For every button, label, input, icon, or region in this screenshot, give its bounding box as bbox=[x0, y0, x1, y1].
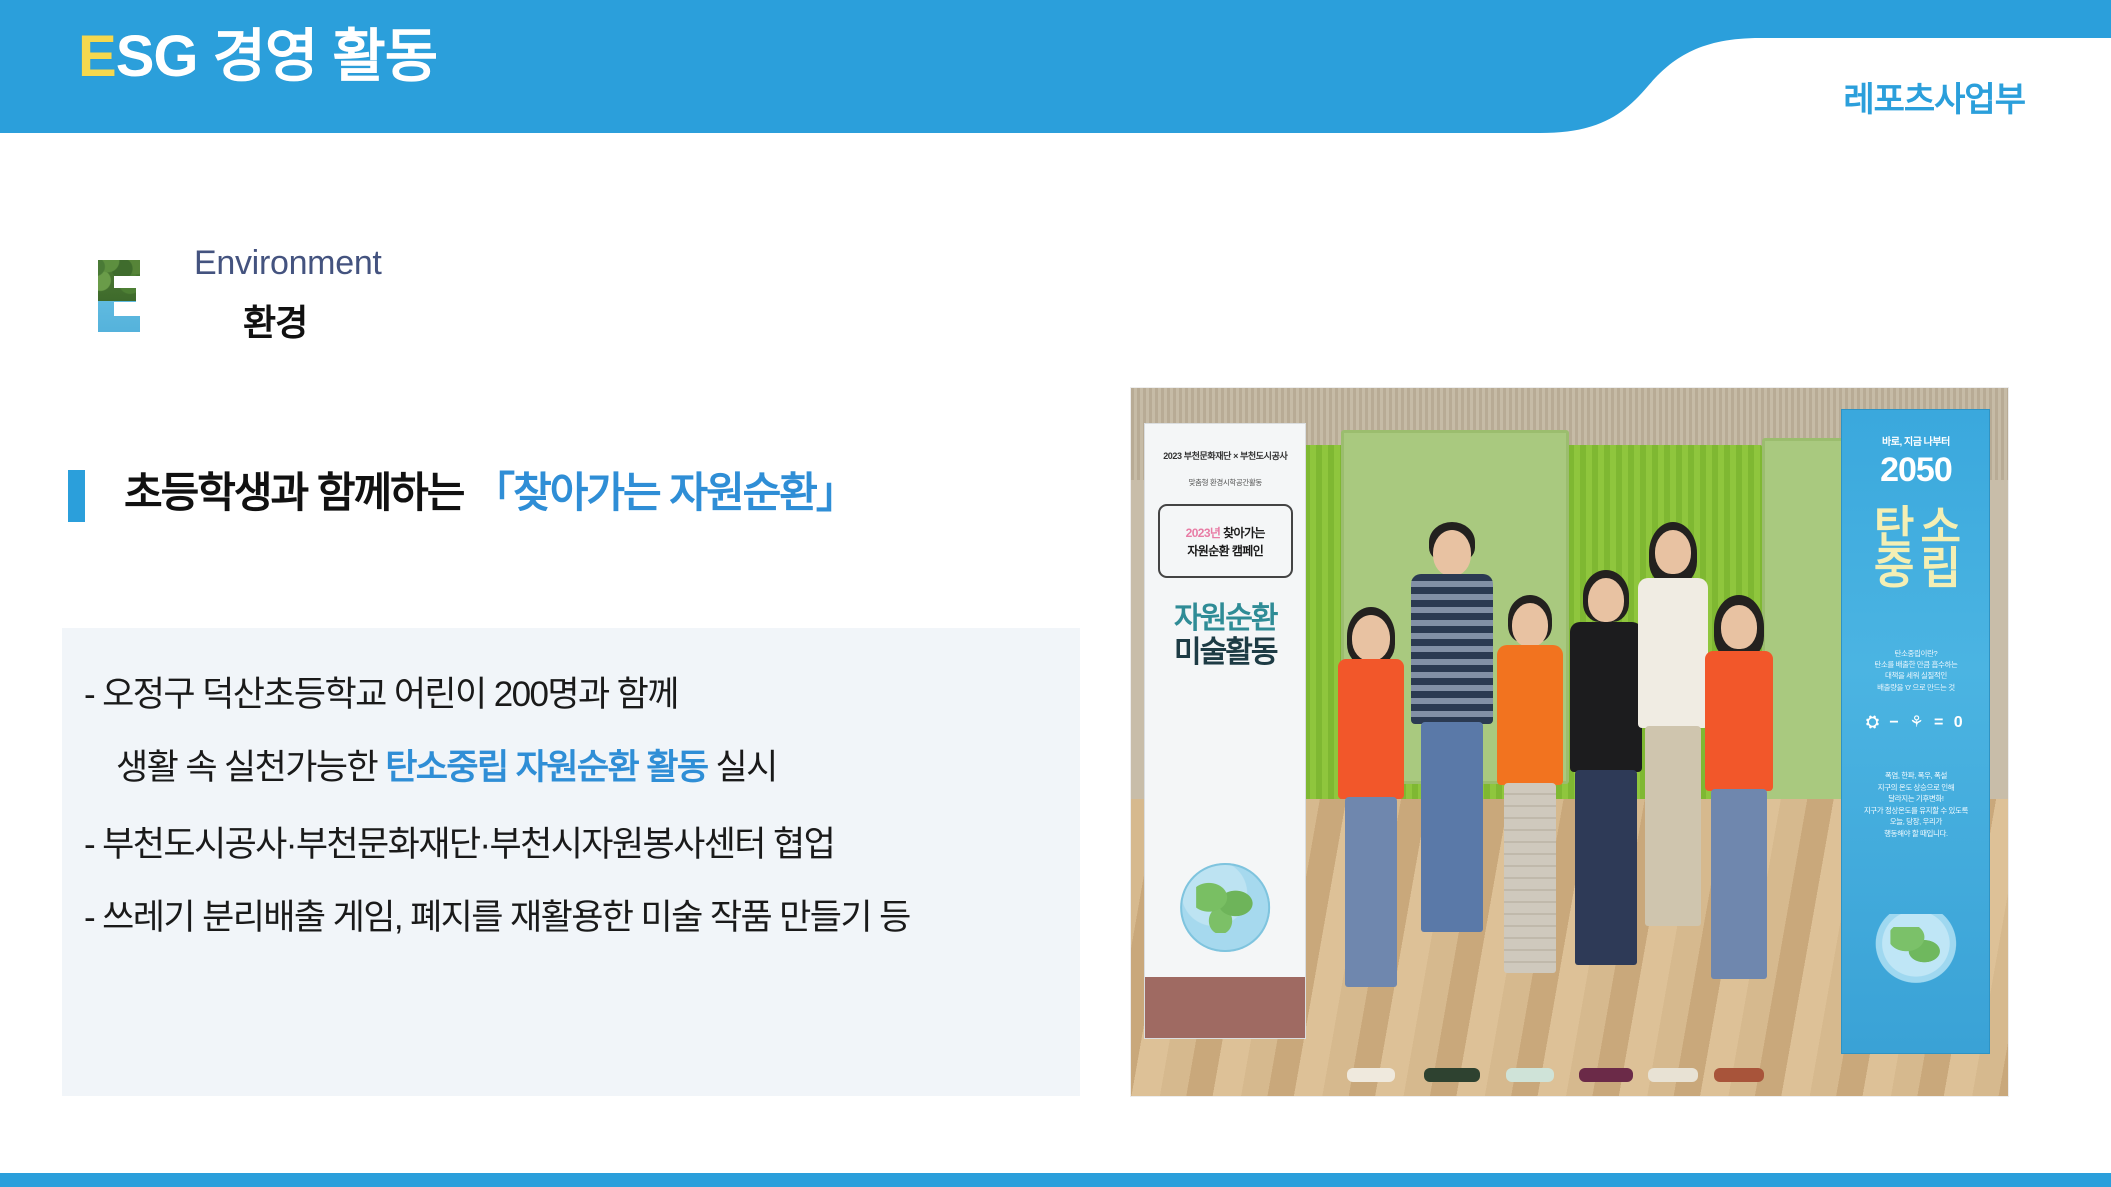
left-banner-top-line2: 맞춤형 환경시학공간활동 bbox=[1145, 477, 1305, 488]
photo-people-group bbox=[1324, 473, 1815, 1082]
left-banner-title-line2: 미술활동 bbox=[1145, 636, 1305, 670]
left-banner-title: 자원순환 미술활동 bbox=[1145, 602, 1305, 669]
bullet-item-2: 생활 속 실천가능한 탄소중립 자원순환 활동 실시 bbox=[84, 745, 1074, 792]
right-banner-title: 탄 소 중 립 bbox=[1842, 507, 1989, 591]
slide-root: ESG 경영 활동 레포츠사업부 Environment 환경 초등학생과 함께… bbox=[0, 0, 2111, 1187]
activity-photo: 2023 부천문화재단 × 부천도시공사 맞춤형 환경시학공간활동 2023년 … bbox=[1131, 388, 2008, 1096]
right-banner-body1: 탄소중립이란? 탄소를 배출한 만큼 흡수하는 대책을 세워 실질적인 배출량을… bbox=[1851, 648, 1980, 693]
person-3 bbox=[1496, 595, 1565, 1082]
left-banner-title-line1: 자원순환 bbox=[1145, 602, 1305, 636]
left-banner-top-line1: 2023 부천문화재단 × 부천도시공사 bbox=[1145, 449, 1305, 462]
left-banner-badge: 2023년 찾아가는 자원순환 캠페인 bbox=[1158, 504, 1293, 578]
person-4 bbox=[1569, 570, 1643, 1081]
right-banner-equation-icon: ⛭ − ⚘ = 0 bbox=[1842, 712, 1989, 732]
bullet-item-1: - 오정구 덕산초등학교 어린이 200명과 함께 bbox=[84, 672, 1074, 719]
person-6 bbox=[1702, 595, 1776, 1082]
department-label: 레포츠사업부 bbox=[1843, 72, 2025, 121]
footer-bar bbox=[0, 1173, 2111, 1187]
pillar-korean-label: 환경 bbox=[243, 294, 307, 346]
section-title-plain: 초등학생과 함께하는 bbox=[124, 469, 473, 516]
left-banner-badge-line2: 자원순환 캠페인 bbox=[1187, 542, 1263, 559]
section-title: 초등학생과 함께하는 「찾아가는 자원순환」 bbox=[124, 466, 856, 521]
section-title-highlight: 「찾아가는 자원순환」 bbox=[473, 469, 856, 516]
environment-logo-icon bbox=[88, 252, 150, 340]
page-title: ESG 경영 활동 bbox=[78, 27, 437, 88]
person-1 bbox=[1334, 607, 1408, 1082]
person-5 bbox=[1638, 522, 1707, 1082]
bullet-2-suffix: 실시 bbox=[707, 748, 776, 787]
bullet-item-3: - 부천도시공사·부천문화재단·부천시자원봉사센터 협업 bbox=[84, 822, 1074, 869]
right-banner-title-line1: 탄 소 bbox=[1842, 507, 1989, 549]
right-banner-line1: 바로, 지금 나부터 bbox=[1842, 433, 1989, 448]
right-banner-body2: 폭염, 한파, 폭우, 폭설 지구의 온도 상승으로 인해 달라지는 기후변화!… bbox=[1850, 770, 1982, 840]
bullet-2-prefix: 생활 속 실천가능한 bbox=[116, 748, 385, 787]
person-2 bbox=[1412, 522, 1491, 1082]
right-banner-earth-icon bbox=[1870, 914, 1961, 989]
bullet-list: - 오정구 덕산초등학교 어린이 200명과 함께 생활 속 실천가능한 탄소중… bbox=[84, 672, 1074, 968]
title-accent-letter: E bbox=[78, 24, 116, 89]
photo-left-banner: 2023 부천문화재단 × 부천도시공사 맞춤형 환경시학공간활동 2023년 … bbox=[1144, 423, 1306, 1039]
right-banner-year: 2050 bbox=[1842, 453, 1989, 487]
left-banner-footer bbox=[1145, 977, 1305, 1038]
bullet-2-highlight: 탄소중립 자원순환 활동 bbox=[385, 748, 707, 787]
left-banner-badge-rest: 찾아가는 bbox=[1220, 526, 1265, 540]
right-banner-title-line2: 중 립 bbox=[1842, 548, 1989, 590]
left-banner-globe-icon bbox=[1180, 863, 1270, 953]
photo-right-banner: 바로, 지금 나부터 2050 탄 소 중 립 탄소중립이란? 탄소를 배출한 … bbox=[1841, 409, 1990, 1053]
bullet-item-4: - 쓰레기 분리배출 게임, 폐지를 재활용한 미술 작품 만들기 등 bbox=[84, 895, 1074, 942]
left-banner-badge-year: 2023년 bbox=[1186, 526, 1221, 540]
title-rest: SG 경영 활동 bbox=[116, 24, 437, 89]
pillar-english-label: Environment bbox=[194, 244, 382, 283]
section-marker bbox=[68, 470, 85, 522]
